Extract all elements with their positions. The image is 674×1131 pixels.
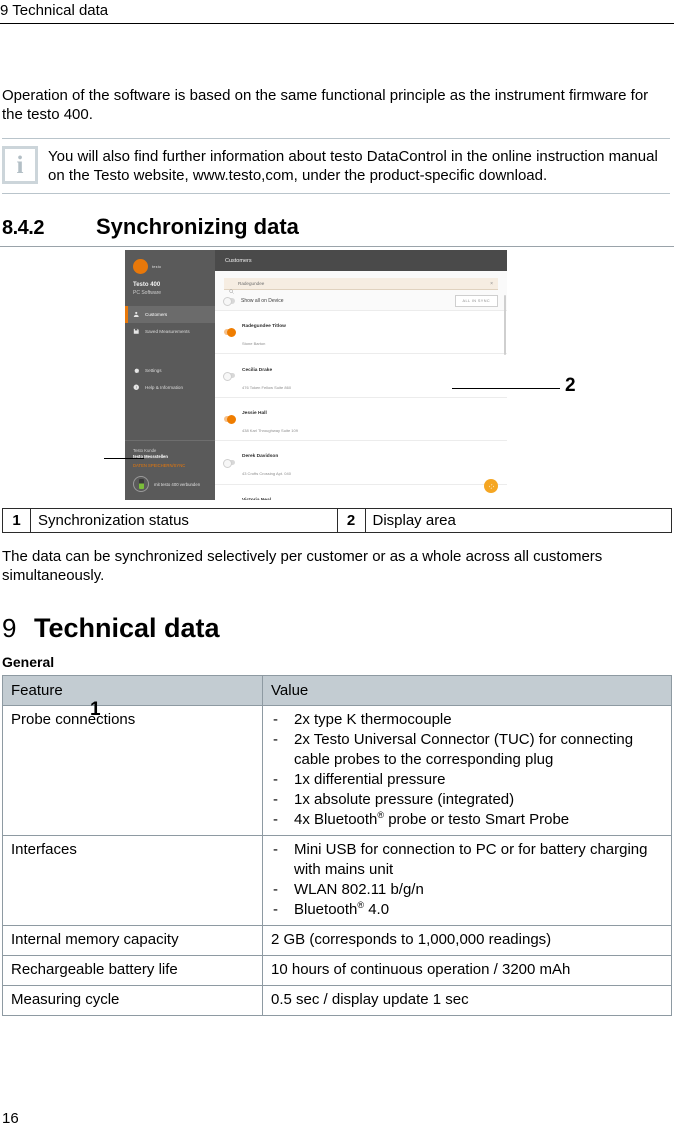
list-item: 2x type K thermocouple [271,710,663,730]
sidebar-item-label: Customers [145,312,167,317]
search-icon [229,281,234,286]
callout-label: Synchronization status [31,509,338,533]
spec-group-title: General [2,654,674,670]
list-item: 1x differential pressure [271,770,663,790]
section-title: Synchronizing data [96,214,299,240]
feature-cell: Measuring cycle [3,986,263,1016]
app-product-title: Testo 400 PC Software [125,274,215,297]
figure-screenshot: testo Testo 400 PC Software Customers [0,246,674,504]
sync-toggle[interactable] [224,373,235,379]
sidebar-item-customers[interactable]: Customers [125,306,215,323]
sidebar-footer: Testo Kunde testo Messstellen DATEN SPEI… [125,440,215,500]
page-number: 16 [2,1110,19,1127]
figure-legend-table: 1 Synchronization status 2 Display area [2,508,672,533]
list-item: 2x Testo Universal Connector (TUC) for c… [271,730,663,770]
search-value: Radegundee [238,281,486,286]
customer-info: Victoria Neal 4740 Judy Level Suite 143 [242,488,289,500]
table-row: Measuring cycle 0.5 sec / display update… [3,986,672,1016]
table-row: Internal memory capacity 2 GB (correspon… [3,926,672,956]
value-list: 2x type K thermocouple 2x Testo Universa… [271,710,663,830]
value-cell: Mini USB for connection to PC or for bat… [263,836,672,926]
sync-fab-button[interactable] [484,479,498,493]
list-item: Bluetooth® 4.0 [271,900,663,920]
callout-line-2 [452,388,560,389]
list-item[interactable]: Derek Davidson 43 Crofts Crossing Apt. 0… [215,440,507,483]
app-main: Customers Radegundee × [215,250,507,500]
list-item: Mini USB for connection to PC or for bat… [271,840,663,880]
sidebar-item-label: Settings [145,368,162,373]
column-header-feature: Feature [3,676,263,706]
show-all-label: Show all on Device [241,298,284,304]
search-row: Radegundee × [215,271,507,293]
value-cell: 2x type K thermocouple 2x Testo Universa… [263,706,672,836]
sidebar-sync-link[interactable]: DATEN SPEICHERN/SYNC [133,462,215,469]
show-all-row: Show all on Device ALL IN SYNC [215,293,507,310]
close-icon[interactable]: × [490,281,493,287]
intro-paragraph: Operation of the software is based on th… [2,86,666,124]
save-icon [133,328,140,335]
customer-address: 438 Karl Throughway Suite 109 [242,428,298,433]
callout-label: Display area [365,509,672,533]
callout-number-1: 1 [90,699,101,721]
value-cell: 10 hours of continuous operation / 3200 … [263,956,672,986]
customer-name: Cecilia Drake [242,368,272,373]
gear-icon [133,367,140,374]
feature-cell: Rechargeable battery life [3,956,263,986]
product-sub: PC Software [133,289,215,297]
column-header-value: Value [263,676,672,706]
running-header: 9 Technical data [0,0,674,24]
info-note: i You will also find further information… [2,138,670,194]
app-sidebar: testo Testo 400 PC Software Customers [125,250,215,500]
value-list: Mini USB for connection to PC or for bat… [271,840,663,920]
sync-toggle[interactable] [224,460,235,466]
app-screenshot: testo Testo 400 PC Software Customers [125,250,507,500]
feature-cell: Probe connections [3,706,263,836]
connection-label: mit testo 400 verbunden [154,482,200,487]
all-in-sync-button[interactable]: ALL IN SYNC [455,295,498,307]
sidebar-item-saved-measurements[interactable]: Saved Measurements [125,323,215,340]
sidebar-item-label: Saved Measurements [145,329,190,334]
show-all-toggle[interactable] [224,298,235,304]
callout-number-2: 2 [565,375,576,397]
list-item: 4x Bluetooth® probe or testo Smart Probe [271,810,663,830]
sync-toggle[interactable] [224,416,235,422]
person-icon [133,311,140,318]
search-input[interactable]: Radegundee × [224,278,498,290]
table-header-row: Feature Value [3,676,672,706]
info-icon: i [2,146,38,184]
list-item: 1x absolute pressure (integrated) [271,790,663,810]
section-number: 8.4.2 [2,217,96,240]
menu-spacer [125,340,215,362]
customer-name: Radegundee Titlow [242,324,286,329]
feature-cell: Internal memory capacity [3,926,263,956]
customer-name: Derek Davidson [242,454,278,459]
customer-name: Victoria Neal [242,498,271,500]
chapter-heading: 9 Technical data [2,613,674,644]
page-content: Operation of the software is based on th… [0,86,674,1016]
table-row: Probe connections 2x type K thermocouple… [3,706,672,836]
testo-logo-icon [133,259,148,274]
list-item[interactable]: Jessie Hall 438 Karl Throughway Suite 10… [215,397,507,440]
section-heading: 8.4.2 Synchronizing data [2,214,674,240]
customer-list: Radegundee Titlow Stone Barton Cecilia D… [215,310,507,500]
customer-address: Stone Barton [242,341,265,346]
customer-address: 476 Token Fellow Suite 860 [242,385,291,390]
list-item: WLAN 802.11 b/g/n [271,880,663,900]
technical-data-table: Feature Value Probe connections 2x type … [2,675,672,1016]
app-topbar: Customers [215,250,507,271]
customer-name: Jessie Hall [242,411,267,416]
table-row: Rechargeable battery life 10 hours of co… [3,956,672,986]
app-menu: Customers Saved Measurements Settings [125,306,215,396]
after-figure-paragraph: The data can be synchronized selectively… [2,547,666,585]
value-cell: 2 GB (corresponds to 1,000,000 readings) [263,926,672,956]
sync-toggle[interactable] [224,329,235,335]
customer-info: Cecilia Drake 476 Token Fellow Suite 860 [242,358,291,394]
callout-index: 2 [337,509,365,533]
feature-cell: Interfaces [3,836,263,926]
table-row: 1 Synchronization status 2 Display area [3,509,672,533]
sidebar-item-label: Help & Information [145,385,183,390]
product-name: Testo 400 [133,281,215,289]
customer-address: 43 Crofts Crossing Apt. 040 [242,471,291,476]
device-icon [133,476,149,492]
connection-status: mit testo 400 verbunden [133,476,215,492]
show-all-toggle-group[interactable]: Show all on Device [224,298,284,304]
callout-line-1 [104,458,144,459]
app-topbar-title: Customers [225,258,252,264]
table-row: Interfaces Mini USB for connection to PC… [3,836,672,926]
list-item[interactable]: Radegundee Titlow Stone Barton [215,310,507,353]
app-logo: testo [125,250,215,274]
sidebar-footer-line2: testo Messstellen [133,454,215,460]
list-item[interactable]: Victoria Neal 4740 Judy Level Suite 143 [215,484,507,501]
app-body: Radegundee × Show all on Device ALL IN S… [215,271,507,500]
info-note-text: You will also find further information a… [48,146,670,185]
customer-info: Derek Davidson 43 Crofts Crossing Apt. 0… [242,444,291,480]
scrollbar[interactable] [504,295,506,355]
callout-index: 1 [3,509,31,533]
chapter-number: 9 [2,613,34,644]
customer-info: Radegundee Titlow Stone Barton [242,314,286,350]
sidebar-item-help-information[interactable]: i Help & Information [125,379,215,396]
customer-info: Jessie Hall 438 Karl Throughway Suite 10… [242,401,298,437]
value-cell: 0.5 sec / display update 1 sec [263,986,672,1016]
chapter-title: Technical data [34,613,220,644]
brand-word: testo [152,265,161,269]
list-item[interactable]: Cecilia Drake 476 Token Fellow Suite 860 [215,353,507,396]
help-icon: i [133,384,140,391]
sidebar-item-settings[interactable]: Settings [125,362,215,379]
